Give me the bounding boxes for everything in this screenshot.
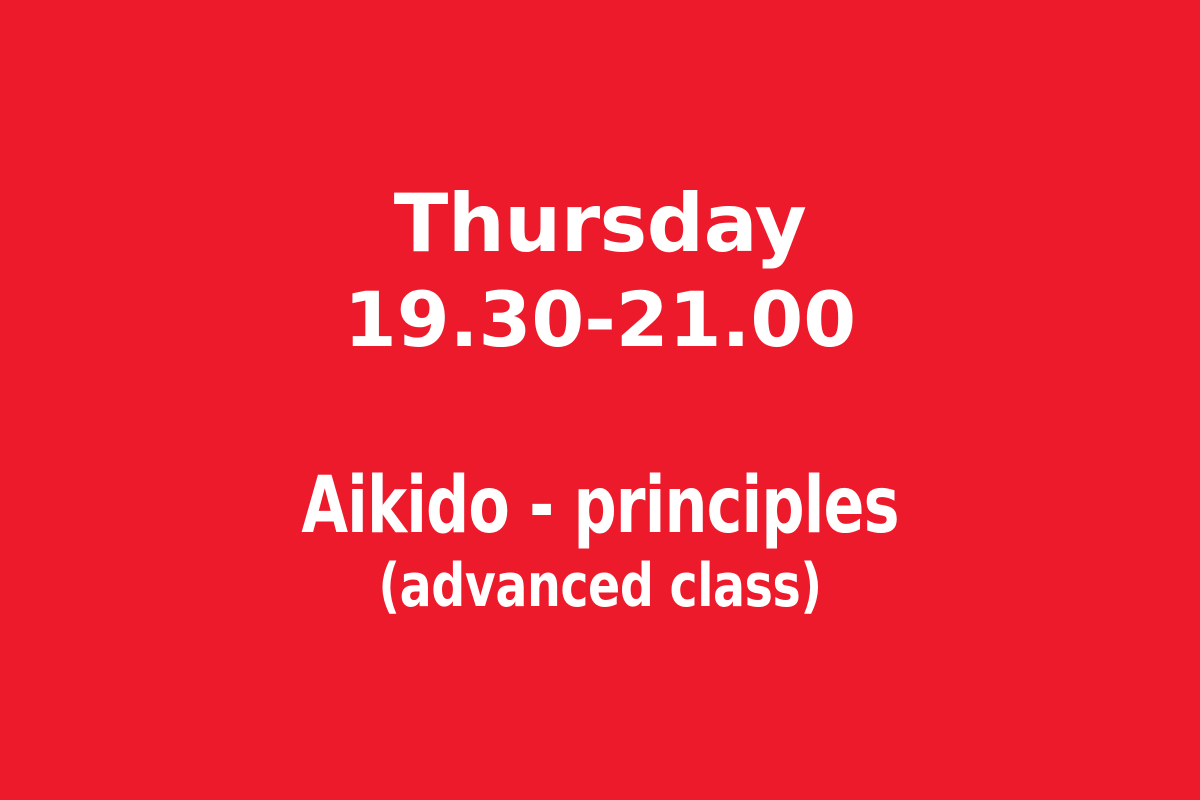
class-time-label: 19.30-21.00	[0, 272, 1200, 368]
schedule-card: Thursday 19.30-21.00 Aikido - principles…	[0, 0, 1200, 800]
class-title-label: Aikido - principles	[84, 464, 1116, 548]
class-day-label: Thursday	[0, 176, 1200, 272]
blank-spacer-line	[0, 368, 1200, 464]
schedule-text-block: Thursday 19.30-21.00 Aikido - principles…	[0, 176, 1200, 624]
class-subtitle-label: (advanced class)	[72, 548, 1128, 624]
